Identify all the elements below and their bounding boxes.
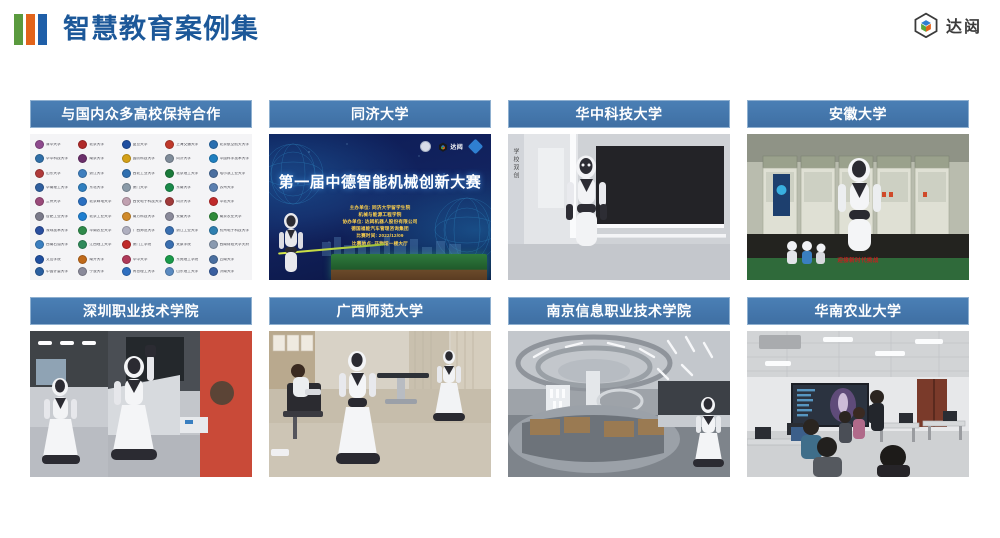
university-emblem-icon <box>78 154 87 163</box>
university-emblem-icon <box>35 240 44 249</box>
university-name: 浙江工业大学 <box>176 229 198 233</box>
szpt-service-robot-photo <box>30 331 252 477</box>
university-name: 同济大学 <box>176 200 191 204</box>
university-name: 华南理工大学 <box>46 186 68 190</box>
university-logo-item: 中国科学技术大学 <box>207 152 249 165</box>
university-logo-item: 南京农业大学 <box>207 210 249 223</box>
university-emblem-icon <box>122 212 131 221</box>
university-name: 华南农业大学 <box>89 229 111 233</box>
university-name: 同济大学 <box>176 157 191 161</box>
university-name: 北京工业大学 <box>89 215 111 219</box>
university-name: 北京航空航天大学 <box>220 143 249 147</box>
hust-robot-corridor-photo: 学校双创 <box>508 134 730 280</box>
university-logo-item: 复旦大学 <box>120 138 162 151</box>
university-name: 厦门大学 <box>133 186 148 190</box>
university-emblem-icon <box>35 140 44 149</box>
university-name: 南京农业大学 <box>220 215 242 219</box>
university-emblem-icon <box>165 212 174 221</box>
banner-brand-text: 达闼 <box>450 142 463 151</box>
logo-wall-grid: 清华大学北京大学复旦大学上海交通大学北京航空航天大学华中科技大学南京大学国防科技… <box>30 134 252 280</box>
university-emblem-icon <box>35 255 44 264</box>
university-emblem-icon <box>165 183 174 192</box>
photo-scene-classroom <box>747 331 969 477</box>
accent-bar-green <box>14 14 23 45</box>
case-card-anhui[interactable]: 安徽大学 <box>747 100 969 280</box>
photo-scene-service <box>30 331 252 477</box>
university-name: 复旦大学 <box>133 143 148 147</box>
university-emblem-icon <box>78 226 87 235</box>
photo-caption-red: 迎接新时代挑战 <box>747 256 969 264</box>
university-emblem-icon <box>209 226 218 235</box>
university-emblem-icon <box>35 226 44 235</box>
university-name: 北京理工大学 <box>176 172 198 176</box>
university-logo-item: 太原学院 <box>163 238 205 251</box>
university-logo-item: 中北大学 <box>207 195 249 208</box>
university-emblem-icon <box>78 267 87 276</box>
card-title-scau: 华南农业大学 <box>747 297 969 325</box>
photo-scene-lab: 迎接新时代挑战 <box>747 134 969 280</box>
university-emblem-icon <box>78 183 87 192</box>
partner-diamond-icon <box>468 139 484 155</box>
university-logo-item: 北京航空航天大学 <box>207 138 249 151</box>
case-card-gxnu[interactable]: 广西师范大学 <box>269 297 491 477</box>
university-logo-item: 同济大学 <box>163 152 205 165</box>
university-logo-item: 广西师范大学 <box>120 224 162 237</box>
university-emblem-icon <box>209 169 218 178</box>
university-emblem-icon <box>209 140 218 149</box>
university-emblem-icon <box>78 169 87 178</box>
case-card-njcit[interactable]: 南京信息职业技术学院 <box>508 297 730 477</box>
photo-scene-corridor: 学校双创 <box>508 134 730 280</box>
university-emblem-icon <box>78 240 87 249</box>
brand-logo: 达闼 <box>913 12 982 38</box>
university-logo-item: 北京大学 <box>76 138 118 151</box>
slide-root: 智慧教育案例集 达闼 与国内众多高校保持合作 清华大学北京大学复旦大学上海交通大… <box>0 0 1000 538</box>
anhui-robot-lab-photo: 迎接新时代挑战 <box>747 134 969 280</box>
university-name: 太原学院 <box>176 243 191 247</box>
card-title-partners: 与国内众多高校保持合作 <box>30 100 252 128</box>
university-name: 浙江大学 <box>89 172 104 176</box>
university-logo-item: 济南大学 <box>207 267 249 276</box>
page-title: 智慧教育案例集 <box>63 16 259 43</box>
university-name: 广西师范大学 <box>133 229 155 233</box>
university-logo-item: 华中大学 <box>120 253 162 266</box>
university-logo-item: 西北工业大学 <box>120 167 162 180</box>
robot-figure-graphic <box>274 212 308 274</box>
university-logo-item: 山东理工大学 <box>163 267 205 276</box>
university-name: 云南大学 <box>220 258 235 262</box>
case-card-partners[interactable]: 与国内众多高校保持合作 清华大学北京大学复旦大学上海交通大学北京航空航天大学华中… <box>30 100 252 280</box>
university-name: 苏州大学 <box>220 186 235 190</box>
billiard-table-graphic <box>331 254 486 280</box>
case-card-hust[interactable]: 华中科技大学 <box>508 100 730 280</box>
university-emblem-icon <box>165 169 174 178</box>
university-emblem-icon <box>165 154 174 163</box>
university-name: 华中大学 <box>133 258 148 262</box>
university-name: 华中科技大学 <box>46 157 68 161</box>
njcit-exhibition-hall-photo <box>508 331 730 477</box>
university-name: 西南财经大学天府学院 <box>220 243 249 247</box>
university-logo-item: 国防科技大学 <box>120 152 162 165</box>
university-logo-item: 华南农业大学 <box>76 224 118 237</box>
university-emblem-icon <box>35 154 44 163</box>
card-title-szpt: 深圳职业技术学院 <box>30 297 252 325</box>
university-logo-item: 清华大学 <box>33 138 75 151</box>
university-name: 东莞理工学院 <box>176 258 198 262</box>
university-name: 江西理工大学 <box>89 243 111 247</box>
university-emblem-icon <box>209 183 218 192</box>
university-name: 中北大学 <box>220 200 235 204</box>
university-emblem-icon <box>78 212 87 221</box>
card-title-tongji: 同济大学 <box>269 100 491 128</box>
university-emblem-icon <box>78 140 87 149</box>
university-emblem-icon <box>122 267 131 276</box>
university-logo-item: 厦门大学 <box>120 181 162 194</box>
university-logo-item: 浙江大学 <box>76 167 118 180</box>
university-name: 厦门工学院 <box>133 243 151 247</box>
university-logo-item: 南方科技大学 <box>120 210 162 223</box>
university-logo-item: 北京理工大学 <box>163 167 205 180</box>
university-emblem-icon <box>209 255 218 264</box>
university-name: 山东大学 <box>46 172 61 176</box>
gxnu-robot-lab-photo <box>269 331 491 477</box>
card-title-anhui: 安徽大学 <box>747 100 969 128</box>
university-name: 南开大学 <box>89 258 104 262</box>
university-emblem-icon <box>122 169 131 178</box>
university-logo-item: 西南财经大学天府学院 <box>207 238 249 251</box>
university-logo-item: 兰州大学 <box>33 195 75 208</box>
university-name: 南方科技大学 <box>133 215 155 219</box>
page-header: 智慧教育案例集 <box>0 0 1000 58</box>
university-logo-wall: 清华大学北京大学复旦大学上海交通大学北京航空航天大学华中科技大学南京大学国防科技… <box>30 134 252 280</box>
university-emblem-icon <box>209 240 218 249</box>
university-name: 清华大学 <box>46 143 61 147</box>
university-logo-item: 同济大学 <box>163 195 205 208</box>
university-logo-item: 深圳技术大学 <box>33 224 75 237</box>
university-emblem-icon <box>122 140 131 149</box>
university-logo-item: 华南理工大学 <box>33 181 75 194</box>
university-logo-item: 浙江工业大学 <box>163 224 205 237</box>
university-logo-item: 南开大学 <box>76 253 118 266</box>
university-name: 深圳技术大学 <box>46 229 68 233</box>
university-name: 哈尔滨工业大学 <box>220 172 246 176</box>
university-logo-item: 中国计量大学 <box>33 267 75 276</box>
university-name: 济南大学 <box>220 270 235 274</box>
brand-name: 达闼 <box>946 13 982 37</box>
university-logo-item: 西安电子科技大学 <box>120 195 162 208</box>
university-logo-item: 合肥工业大学 <box>33 210 75 223</box>
case-card-szpt[interactable]: 深圳职业技术学院 <box>30 297 252 477</box>
card-title-gxnu: 广西师范大学 <box>269 297 491 325</box>
university-name: 西北工业大学 <box>133 172 155 176</box>
university-logo-item: 云南大学 <box>207 253 249 266</box>
university-logo-item: 上海交通大学 <box>163 138 205 151</box>
accent-bar-orange <box>26 14 35 45</box>
university-emblem-icon <box>209 197 218 206</box>
university-emblem-icon <box>78 255 87 264</box>
university-logo-item: 文山学院 <box>33 253 75 266</box>
university-name: 东北大学 <box>89 186 104 190</box>
university-emblem-icon <box>78 197 87 206</box>
university-emblem-icon <box>122 183 131 192</box>
university-name: 安徽大学 <box>176 215 191 219</box>
university-emblem-icon <box>165 240 174 249</box>
university-emblem-icon <box>209 267 218 276</box>
case-card-grid: 与国内众多高校保持合作 清华大学北京大学复旦大学上海交通大学北京航空航天大学华中… <box>30 100 970 477</box>
university-emblem-icon <box>122 197 131 206</box>
university-logo-item: 山东大学 <box>33 167 75 180</box>
university-name: 兰州大学 <box>46 200 61 204</box>
university-logo-item: 西南石油大学 <box>33 238 75 251</box>
university-name: 中国计量大学 <box>46 270 68 274</box>
hexagon-cube-icon <box>913 12 939 38</box>
cloudminds-logo-icon: 达闼 <box>438 142 463 152</box>
banner-logo-row: 达闼 <box>420 141 481 152</box>
university-emblem-icon <box>165 140 174 149</box>
university-logo-item: 青岛理工大学 <box>120 267 162 276</box>
university-logo-item: 北京工业大学 <box>76 210 118 223</box>
university-emblem-icon <box>35 197 44 206</box>
university-emblem-icon <box>165 267 174 276</box>
card-title-njcit: 南京信息职业技术学院 <box>508 297 730 325</box>
university-name: 宁波大学 <box>89 270 104 274</box>
university-logo-item: 南京大学 <box>76 152 118 165</box>
university-emblem-icon <box>122 226 131 235</box>
university-logo-item: 宁波大学 <box>76 267 118 276</box>
scau-computer-classroom-photo <box>747 331 969 477</box>
university-name: 东南大学 <box>176 186 191 190</box>
university-logo-item: 哈尔滨工业大学 <box>207 167 249 180</box>
accent-bars <box>14 14 47 45</box>
university-emblem-icon <box>165 197 174 206</box>
university-emblem-icon <box>35 169 44 178</box>
university-logo-item: 东北大学 <box>76 181 118 194</box>
university-name: 西安电子科技大学 <box>133 200 162 204</box>
university-name: 南京大学 <box>89 157 104 161</box>
university-emblem-icon <box>35 212 44 221</box>
photo-scene-hall <box>508 331 730 477</box>
university-name: 西南石油大学 <box>46 243 68 247</box>
university-name: 山东理工大学 <box>176 270 198 274</box>
banner-scene: 达闼 第一届中德智能机械创新大赛 主办单位: 同济大学留学生院机械与能源工程学院… <box>269 134 491 280</box>
university-name: 青岛理工大学 <box>133 270 155 274</box>
university-emblem-icon <box>122 240 131 249</box>
photo-caption-vertical: 学校双创 <box>511 148 520 180</box>
university-emblem-icon <box>35 183 44 192</box>
university-name: 中国科学技术大学 <box>220 157 249 161</box>
university-logo-item: 安徽大学 <box>163 210 205 223</box>
photo-scene-gxnu <box>269 331 491 477</box>
university-emblem-icon <box>165 226 174 235</box>
university-name: 合肥工业大学 <box>46 215 68 219</box>
tongji-competition-banner: 达闼 第一届中德智能机械创新大赛 主办单位: 同济大学留学生院机械与能源工程学院… <box>269 134 491 280</box>
university-emblem-icon <box>122 154 131 163</box>
card-title-hust: 华中科技大学 <box>508 100 730 128</box>
university-name: 文山学院 <box>46 258 61 262</box>
tongji-emblem-icon <box>420 141 431 152</box>
university-name: 北京大学 <box>89 143 104 147</box>
university-name: 上海交通大学 <box>176 143 198 147</box>
university-name: 杭州电子科技大学 <box>220 229 249 233</box>
university-name: 国防科技大学 <box>133 157 155 161</box>
case-card-scau[interactable]: 华南农业大学 <box>747 297 969 477</box>
university-logo-item: 厦门工学院 <box>120 238 162 251</box>
university-logo-item: 华中科技大学 <box>33 152 75 165</box>
university-logo-item: 杭州电子科技大学 <box>207 224 249 237</box>
accent-bar-blue <box>38 14 47 45</box>
university-logo-item: 北京邮电大学 <box>76 195 118 208</box>
case-card-tongji[interactable]: 同济大学 <box>269 100 491 280</box>
university-emblem-icon <box>122 255 131 264</box>
university-logo-item: 江西理工大学 <box>76 238 118 251</box>
university-emblem-icon <box>35 267 44 276</box>
university-emblem-icon <box>165 255 174 264</box>
banner-detail-line: 主办单位: 同济大学留学生院 <box>269 204 491 211</box>
banner-title: 第一届中德智能机械创新大赛 <box>269 171 491 192</box>
university-emblem-icon <box>209 212 218 221</box>
university-logo-item: 东莞理工学院 <box>163 253 205 266</box>
university-logo-item: 苏州大学 <box>207 181 249 194</box>
university-logo-item: 东南大学 <box>163 181 205 194</box>
university-emblem-icon <box>209 154 218 163</box>
university-name: 北京邮电大学 <box>89 200 111 204</box>
